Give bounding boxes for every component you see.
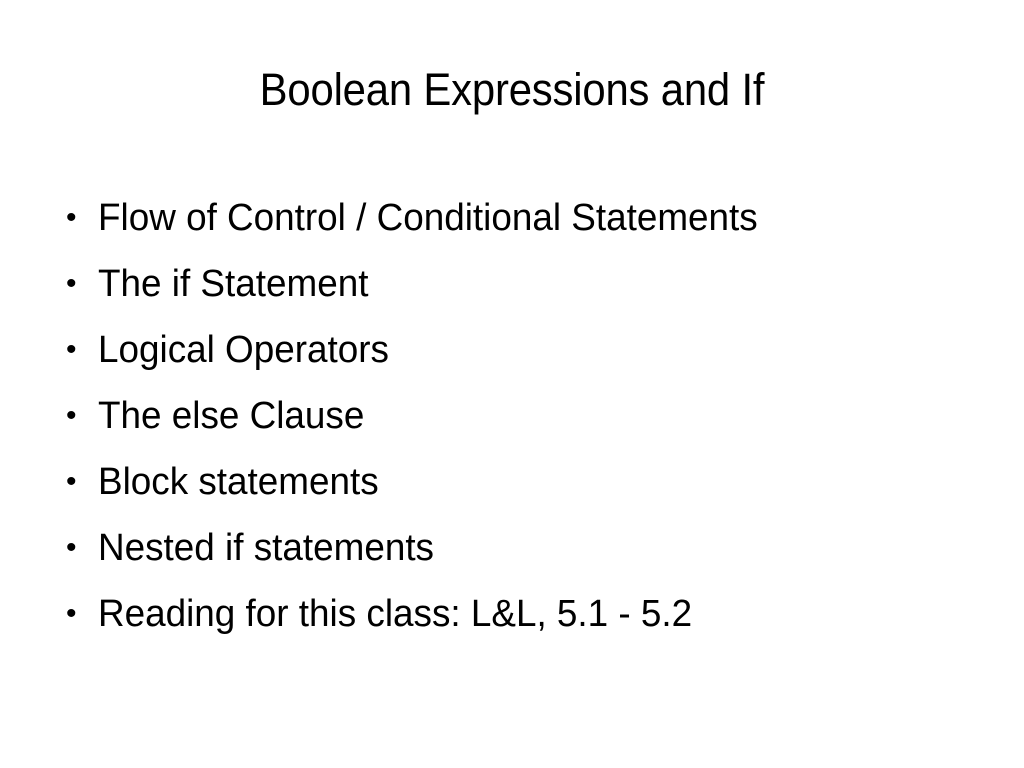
list-item: • Nested if statements (60, 515, 980, 581)
bullet-list: • Flow of Control / Conditional Statemen… (60, 185, 980, 647)
list-item-label: Nested if statements (98, 515, 434, 581)
bullet-point-icon: • (66, 317, 86, 383)
list-item-label: Block statements (98, 449, 379, 515)
bullet-point-icon: • (66, 251, 86, 317)
list-item: • Flow of Control / Conditional Statemen… (60, 185, 980, 251)
list-item: • The if Statement (60, 251, 980, 317)
bullet-point-icon: • (66, 515, 86, 581)
list-item-label: The else Clause (98, 383, 364, 449)
list-item-label: Reading for this class: L&L, 5.1 - 5.2 (98, 581, 692, 647)
slide-title: Boolean Expressions and If (36, 62, 988, 118)
bullet-point-icon: • (66, 185, 86, 251)
list-item: • Reading for this class: L&L, 5.1 - 5.2 (60, 581, 980, 647)
list-item-label: The if Statement (98, 251, 368, 317)
list-item: • Logical Operators (60, 317, 980, 383)
slide-content-body: • Flow of Control / Conditional Statemen… (60, 185, 980, 647)
list-item-label: Flow of Control / Conditional Statements (98, 185, 758, 251)
presentation-slide: Boolean Expressions and If • Flow of Con… (0, 0, 1024, 768)
list-item: • Block statements (60, 449, 980, 515)
bullet-point-icon: • (66, 581, 86, 647)
bullet-point-icon: • (66, 449, 86, 515)
list-item-label: Logical Operators (98, 317, 389, 383)
list-item: • The else Clause (60, 383, 980, 449)
bullet-point-icon: • (66, 383, 86, 449)
